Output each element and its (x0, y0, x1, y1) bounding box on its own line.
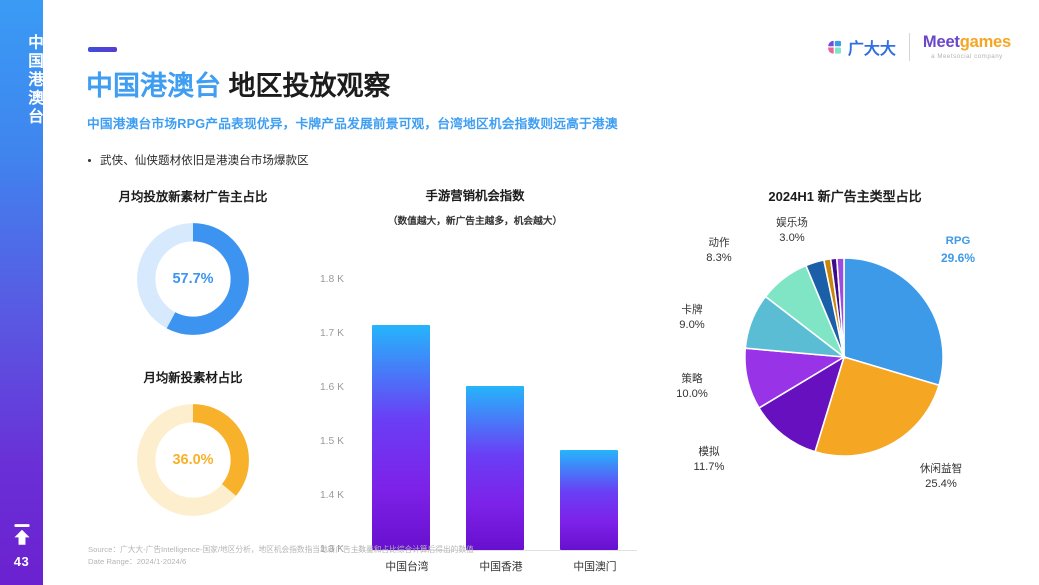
brand-logo-text: 广大大 (848, 35, 896, 59)
donut-bottom-value: 36.0% (132, 399, 254, 521)
pie-label-card: 卡牌 9.0% (657, 303, 727, 333)
meetgames-tagline: a Meetsocial company (923, 54, 1011, 60)
footer-date-range: Date Range：2024/1-2024/6 (88, 556, 474, 569)
page-title-highlight: 中国港澳台 (86, 71, 221, 101)
page-subtitle: 中国港澳台市场RPG产品表现优异，卡牌产品发展前景可观，台湾地区机会指数则远高于… (87, 113, 618, 132)
brand-logo-meetgames: Meetgames a Meetsocial company (923, 34, 1011, 60)
bar-ytick-3: 1.5 K (310, 436, 344, 447)
bar-chart-subtitle: （数值越大，新广告主越多，机会越大） (310, 213, 640, 227)
bar-taiwan[interactable] (372, 325, 430, 550)
pie-chart-title: 2024H1 新广告主类型占比 (660, 186, 1030, 205)
footer-source: Source：广大大-广告Intelligence-国家/地区分析，地区机会指数… (88, 544, 474, 569)
chart-bar-opportunity-index: 手游营销机会指数 （数值越大，新广告主越多，机会越大） 1.8 K 1.7 K … (310, 186, 640, 536)
footer-source-line: Source：广大大-广告Intelligence-国家/地区分析，地区机会指数… (88, 544, 474, 557)
pie-label-strategy: 策略 10.0% (657, 372, 727, 402)
page-number: 43 (0, 554, 43, 569)
pie-graphic (735, 248, 953, 466)
pie-label-casual: 休闲益智 25.4% (896, 462, 986, 492)
bar-ytick-2: 1.6 K (310, 382, 344, 393)
donut-top-graphic: 57.7% (132, 218, 254, 340)
logo-group: 广大大 Meetgames a Meetsocial company (826, 33, 1011, 61)
four-square-logo-icon (826, 39, 843, 56)
bar-ytick-4: 1.4 K (310, 490, 344, 501)
bullet-text: 武侠、仙侠题材依旧是港澳台市场爆款区 (100, 152, 309, 168)
pie-label-rpg: RPG 29.6% (918, 234, 998, 266)
accent-dash (88, 47, 117, 52)
bar-plot-area: 1.8 K 1.7 K 1.6 K 1.5 K 1.4 K 1.3 K 中国台湾… (310, 230, 640, 520)
meetgames-word-2: games (960, 33, 1011, 51)
sidebar-section-label: 中国港澳台 (0, 34, 43, 127)
donut-bottom-graphic: 36.0% (132, 399, 254, 521)
slide-canvas: 中国港澳台 43 中国港澳台 地区投放观察 中国港澳台市场RPG产品表现优异，卡… (0, 0, 1039, 585)
donut-bottom-title: 月均新投素材占比 (100, 368, 286, 386)
bullet-item: 武侠、仙侠题材依旧是港澳台市场爆款区 (88, 152, 309, 168)
donut-top-value: 57.7% (132, 218, 254, 340)
up-arrow-bar-icon[interactable] (9, 522, 35, 548)
bullet-dot-icon (88, 159, 91, 162)
sidebar-rail: 中国港澳台 43 (0, 0, 43, 585)
chart-donut-new-advertiser-share: 月均投放新素材广告主占比 57.7% (100, 187, 286, 340)
pie-label-simulation: 模拟 11.7% (674, 445, 744, 475)
bar-hongkong[interactable] (466, 386, 524, 550)
bar-ytick-1: 1.7 K (310, 328, 344, 339)
sidebar-footer: 43 (0, 522, 43, 569)
pie-label-action: 动作 8.3% (684, 236, 754, 266)
page-title: 中国港澳台 地区投放观察 (86, 64, 391, 103)
chart-donut-new-creative-share: 月均新投素材占比 36.0% (100, 368, 286, 521)
logo-divider (909, 33, 910, 61)
brand-logo-guangdada: 广大大 (826, 35, 896, 59)
donut-top-title: 月均投放新素材广告主占比 (100, 187, 286, 205)
bar-chart-title: 手游营销机会指数 (310, 186, 640, 204)
bar-cat-macau: 中国澳门 (525, 558, 665, 574)
bar-columns (354, 230, 637, 550)
bar-macau[interactable] (560, 450, 618, 550)
pie-label-casino: 娱乐场 3.0% (757, 216, 827, 246)
bar-ytick-0: 1.8 K (310, 274, 344, 285)
meetgames-word-1: Meet (923, 33, 960, 51)
page-title-rest: 地区投放观察 (229, 71, 391, 101)
chart-pie-genre-share: 2024H1 新广告主类型占比 (660, 186, 1030, 536)
